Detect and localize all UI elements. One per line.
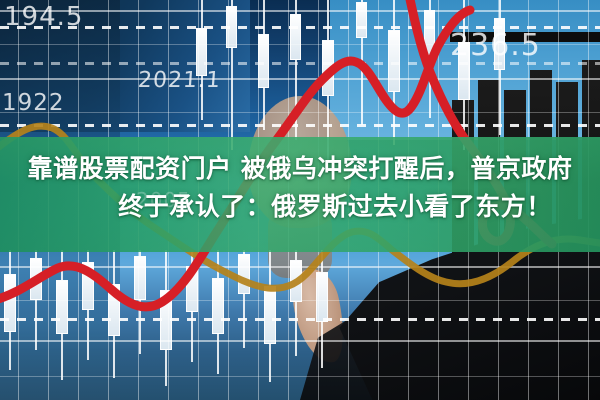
background-number-236-5: 236.5 — [450, 28, 541, 63]
headline-line-2: 终于承认了：俄罗斯过去小看了东方！ — [0, 188, 600, 226]
banner-image: 194.5 1922 2021.1 236.5 2005 靠谱股票配资门户 被俄… — [0, 0, 600, 400]
headline-text: 靠谱股票配资门户 被俄乌冲突打醒后，普京政府 终于承认了：俄罗斯过去小看了东方！ — [0, 150, 600, 226]
background-number-194-5: 194.5 — [4, 2, 83, 32]
background-number-1922: 1922 — [2, 90, 65, 116]
background-number-2021-1: 2021.1 — [137, 68, 222, 93]
headline-line-1: 靠谱股票配资门户 被俄乌冲突打醒后，普京政府 — [0, 150, 600, 188]
